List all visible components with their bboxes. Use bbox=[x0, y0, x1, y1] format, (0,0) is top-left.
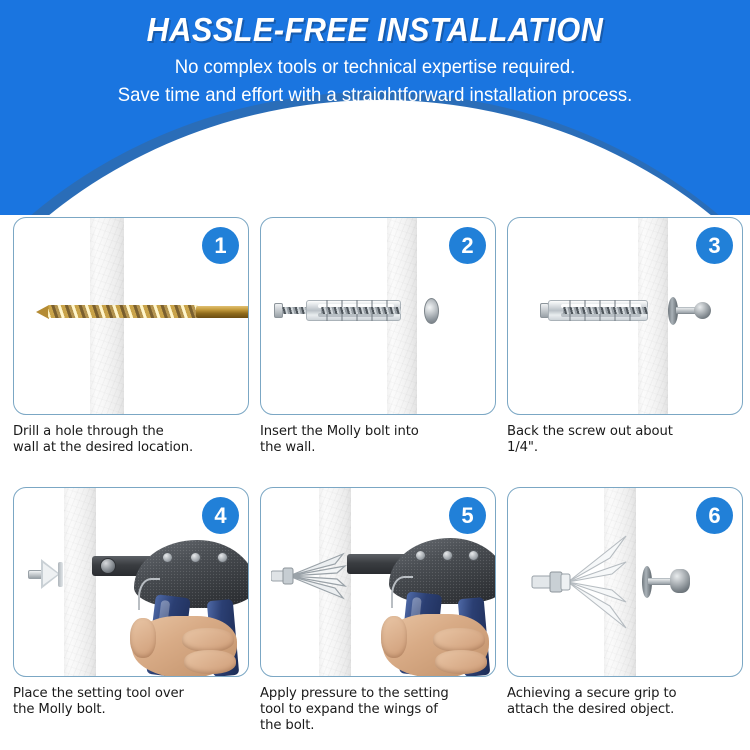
tool-rivet-3 bbox=[217, 552, 228, 563]
backed-out-screw-head bbox=[694, 302, 711, 319]
step-badge-4: 4 bbox=[202, 497, 239, 534]
finger-2 bbox=[435, 650, 487, 674]
step-badge-3: 3 bbox=[696, 227, 733, 264]
installation-steps-grid: 1 Drill a hole through the wall at the d… bbox=[0, 215, 750, 750]
page-title: HASSLE-FREE INSTALLATION bbox=[26, 11, 724, 49]
setting-tool-pivot bbox=[100, 558, 116, 574]
step-caption-4: Place the setting tool over the Molly bo… bbox=[13, 686, 249, 718]
header-subtitle-line-2: Save time and effort with a straightforw… bbox=[19, 84, 732, 107]
step-cell-6: 6 Achieving a secure grip to attach the … bbox=[507, 487, 743, 718]
expanded-anchor-wings bbox=[530, 532, 640, 632]
finger-1 bbox=[433, 628, 485, 652]
step-caption-2: Insert the Molly bolt into the wall. bbox=[260, 424, 496, 456]
step-cell-5: 5 Apply pressure to the setting tool to … bbox=[260, 487, 496, 734]
thumb bbox=[381, 616, 407, 658]
step-caption-3: Back the screw out about 1/4". bbox=[507, 424, 743, 456]
screw-shaft-inner bbox=[563, 307, 648, 314]
step-cell-4: 4 Place the setting tool over the Molly … bbox=[13, 487, 249, 718]
step-image-card-4: 4 bbox=[13, 487, 249, 677]
tool-rivet-2 bbox=[190, 552, 201, 563]
step-image-card-1: 1 bbox=[13, 217, 249, 415]
step-badge-1: 1 bbox=[202, 227, 239, 264]
step-badge-2: 2 bbox=[449, 227, 486, 264]
step-badge-6: 6 bbox=[696, 497, 733, 534]
anchor-flange bbox=[58, 562, 63, 587]
expanded-anchor-wings bbox=[271, 548, 357, 604]
screw-shaft-outer bbox=[282, 307, 308, 314]
step-image-card-6: 6 bbox=[507, 487, 743, 677]
step-image-card-3: 3 bbox=[507, 217, 743, 415]
step-caption-5: Apply pressure to the setting tool to ex… bbox=[260, 686, 496, 734]
step-cell-1: 1 Drill a hole through the wall at the d… bbox=[13, 217, 249, 456]
screw-shaft-inner bbox=[321, 307, 401, 314]
step-caption-1: Drill a hole through the wall at the des… bbox=[13, 424, 249, 456]
tool-rivet-2 bbox=[442, 550, 453, 561]
finger-1 bbox=[182, 628, 234, 652]
step-badge-5: 5 bbox=[449, 497, 486, 534]
drywall-strip bbox=[64, 487, 96, 677]
step-cell-2: 2 Insert the Molly bolt into the wall. bbox=[260, 217, 496, 456]
step-image-card-5: 5 bbox=[260, 487, 496, 677]
anchor-cone-inner bbox=[43, 563, 58, 585]
tool-rivet-1 bbox=[415, 550, 426, 561]
header-banner: HASSLE-FREE INSTALLATION No complex tool… bbox=[0, 0, 750, 215]
header-subtitle-line-1: No complex tools or technical expertise … bbox=[19, 56, 732, 79]
mount-head bbox=[670, 569, 690, 593]
thumb bbox=[130, 618, 156, 658]
tool-rivet-3 bbox=[468, 550, 479, 561]
drill-bit-shank bbox=[196, 306, 249, 318]
step-image-card-2: 2 bbox=[260, 217, 496, 415]
drill-bit-flutes bbox=[48, 305, 198, 318]
step-cell-3: 3 Back the screw out about 1/4". bbox=[507, 217, 743, 456]
tool-rivet-1 bbox=[162, 552, 173, 563]
step-caption-6: Achieving a secure grip to attach the de… bbox=[507, 686, 743, 718]
finger-2 bbox=[184, 650, 236, 674]
bolt-cap bbox=[424, 298, 439, 324]
collapsed-anchor-wings bbox=[28, 559, 68, 589]
